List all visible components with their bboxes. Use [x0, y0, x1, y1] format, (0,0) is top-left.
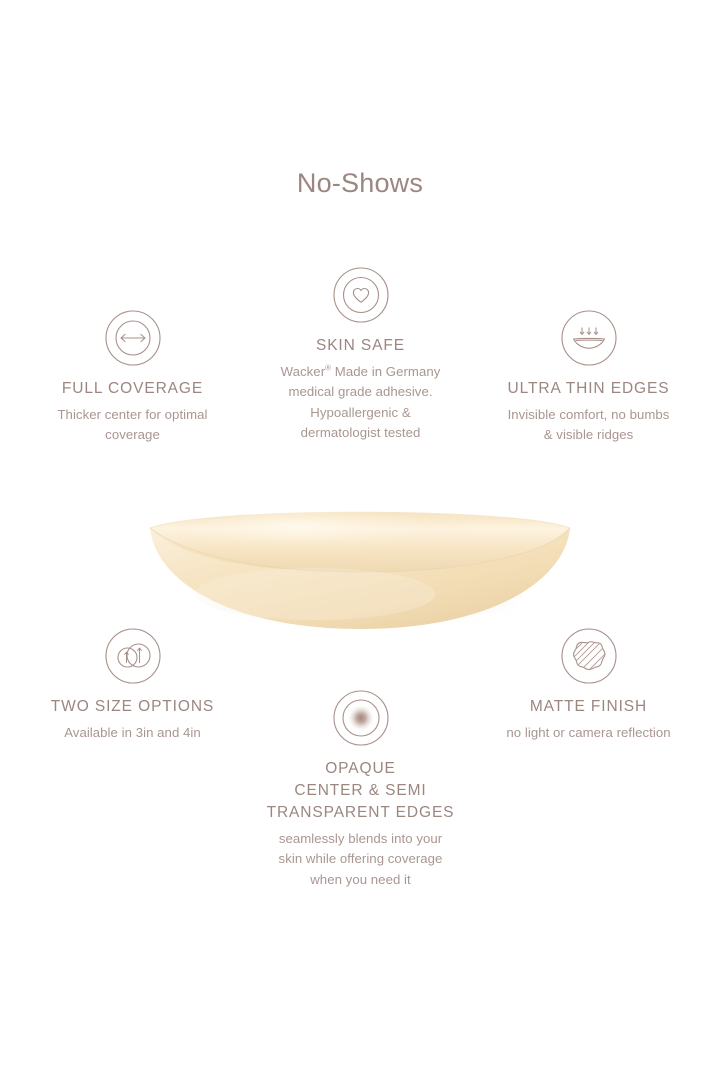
infographic-page: No-Shows FULL COVERAGE Thicker center fo…	[0, 0, 720, 1080]
two-circles-arrows-icon	[15, 626, 250, 686]
feature-description: Thicker center for optimal coverage	[15, 405, 250, 446]
feature-title: FULL COVERAGE	[15, 378, 250, 400]
feature-description: Available in 3in and 4in	[15, 723, 250, 743]
feature-description: no light or camera reflection	[471, 723, 706, 743]
thin-edge-arrows-icon	[471, 308, 706, 368]
brand-name: Wacker	[281, 364, 326, 379]
radial-gradient-dot-icon	[243, 688, 478, 748]
coverage-width-icon	[15, 308, 250, 368]
feature-matte-finish: MATTE FINISH no light or camera reflecti…	[471, 626, 706, 743]
feature-description: Invisible comfort, no bumbs & visible ri…	[471, 405, 706, 446]
feature-title: SKIN SAFE	[243, 335, 478, 357]
feature-skin-safe: SKIN SAFE Wacker® Made in Germany medica…	[243, 265, 478, 444]
feature-title: OPAQUE CENTER & SEMI TRANSPARENT EDGES	[243, 758, 478, 824]
page-title: No-Shows	[0, 170, 720, 197]
feature-title: ULTRA THIN EDGES	[471, 378, 706, 400]
hatched-blob-icon	[471, 626, 706, 686]
feature-full-coverage: FULL COVERAGE Thicker center for optimal…	[15, 308, 250, 446]
product-image	[145, 486, 575, 636]
heart-circle-icon	[243, 265, 478, 325]
feature-two-size-options: TWO SIZE OPTIONS Available in 3in and 4i…	[15, 626, 250, 743]
feature-description: Wacker® Made in Germany medical grade ad…	[243, 362, 478, 444]
feature-title: TWO SIZE OPTIONS	[15, 696, 250, 718]
nipple-cover-side-view-graphic	[145, 486, 575, 636]
feature-ultra-thin-edges: ULTRA THIN EDGES Invisible comfort, no b…	[471, 308, 706, 446]
feature-title: MATTE FINISH	[471, 696, 706, 718]
feature-opaque-center: OPAQUE CENTER & SEMI TRANSPARENT EDGES s…	[243, 688, 478, 890]
feature-description: seamlessly blends into your skin while o…	[243, 829, 478, 890]
